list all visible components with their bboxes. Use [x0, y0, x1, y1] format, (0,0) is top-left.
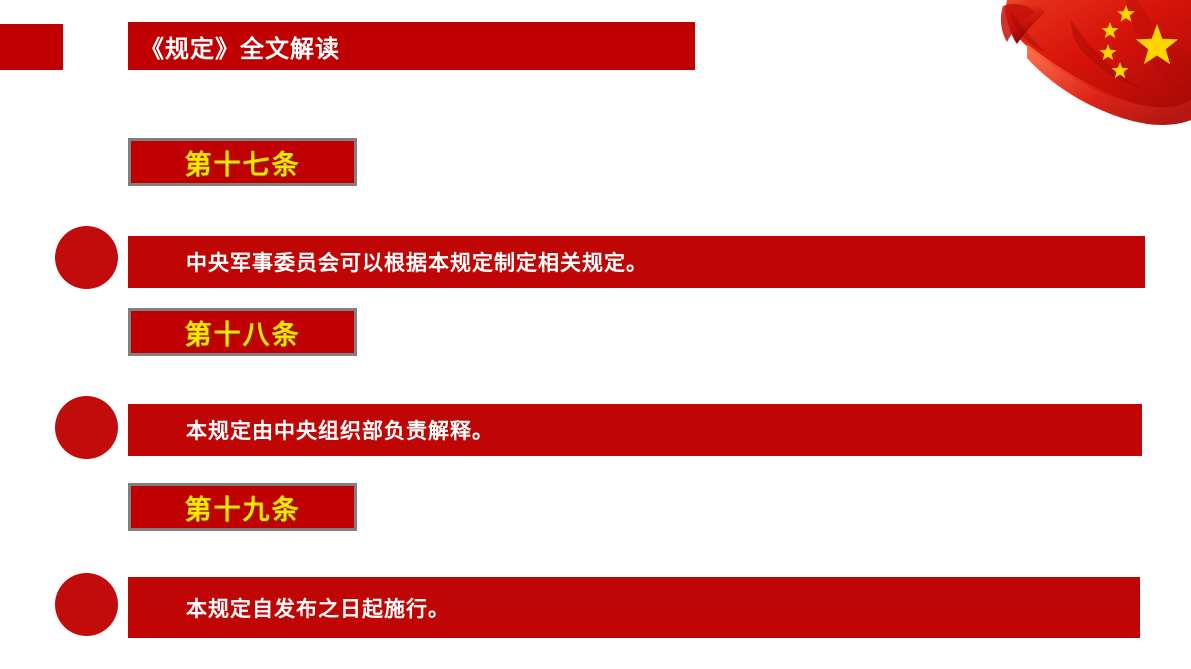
article-content-text-0: 中央军事委员会可以根据本规定制定相关规定。 — [128, 247, 648, 277]
article-label-1: 第十八条 — [128, 308, 357, 356]
article-content-text-2: 本规定自发布之日起施行。 — [128, 593, 450, 623]
article-label-0: 第十七条 — [128, 138, 357, 186]
header-accent-tab — [0, 24, 63, 70]
article-content-text-1: 本规定由中央组织部负责解释。 — [128, 415, 494, 445]
article-content-bar-1: 本规定由中央组织部负责解释。 — [128, 404, 1142, 456]
article-content-bar-2: 本规定自发布之日起施行。 — [128, 577, 1140, 638]
page-title: 《规定》全文解读 — [128, 29, 340, 64]
article-label-2: 第十九条 — [128, 483, 357, 531]
circle-bullet-icon-2 — [55, 573, 118, 636]
china-flag-icon — [975, 0, 1191, 136]
page-title-bar: 《规定》全文解读 — [128, 22, 695, 70]
article-label-text-2: 第十九条 — [185, 488, 301, 527]
circle-bullet-icon-0 — [55, 226, 118, 289]
circle-bullet-icon-1 — [55, 396, 118, 459]
article-label-text-1: 第十八条 — [185, 313, 301, 352]
article-content-bar-0: 中央军事委员会可以根据本规定制定相关规定。 — [128, 236, 1145, 288]
slide-canvas: 《规定》全文解读 — [0, 0, 1191, 669]
article-label-text-0: 第十七条 — [185, 143, 301, 182]
